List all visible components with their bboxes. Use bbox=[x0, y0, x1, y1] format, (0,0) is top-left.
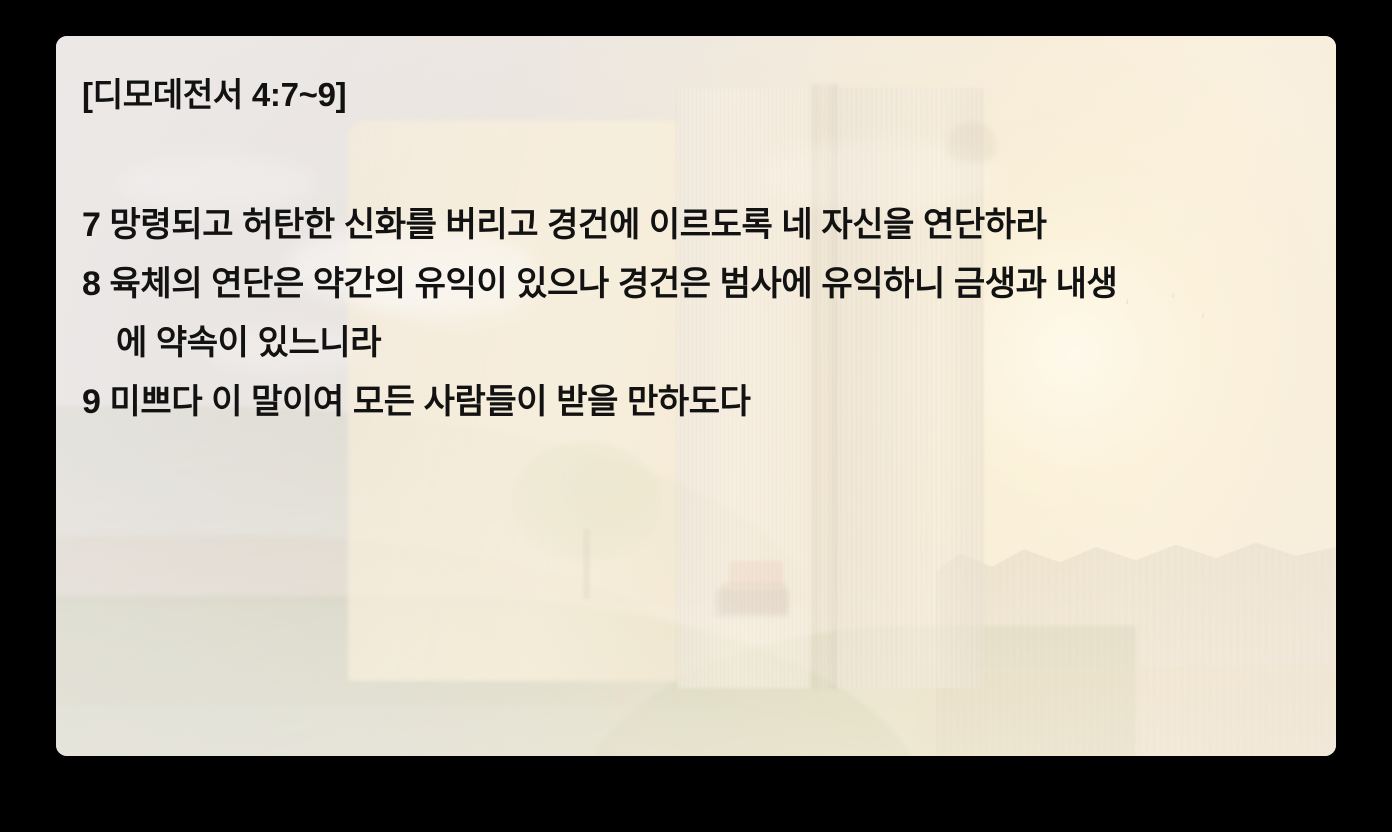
verse-line-7: 7 망령되고 허탄한 신화를 버리고 경건에 이르도록 네 자신을 연단하라 bbox=[82, 196, 1322, 255]
verse-line-8: 8 육체의 연단은 약간의 유익이 있으나 경건은 범사에 유익하니 금생과 내… bbox=[82, 255, 1322, 314]
verse-line-8-continuation: 에 약속이 있느니라 bbox=[82, 314, 1322, 373]
scripture-reference-title: [디모데전서 4:7~9] bbox=[82, 68, 346, 116]
slide-stage: ⱼ ⱼ ⱼ [디모데전서 4:7~9] 7 망령되고 허탄한 신화를 버리고 경… bbox=[0, 0, 1392, 832]
scripture-verse-block: 7 망령되고 허탄한 신화를 버리고 경건에 이르도록 네 자신을 연단하라 8… bbox=[82, 196, 1322, 432]
slide-content: [디모데전서 4:7~9] 7 망령되고 허탄한 신화를 버리고 경건에 이르도… bbox=[56, 36, 1336, 756]
scripture-slide: ⱼ ⱼ ⱼ [디모데전서 4:7~9] 7 망령되고 허탄한 신화를 버리고 경… bbox=[56, 36, 1336, 756]
verse-line-9: 9 미쁘다 이 말이여 모든 사람들이 받을 만하도다 bbox=[82, 373, 1322, 432]
